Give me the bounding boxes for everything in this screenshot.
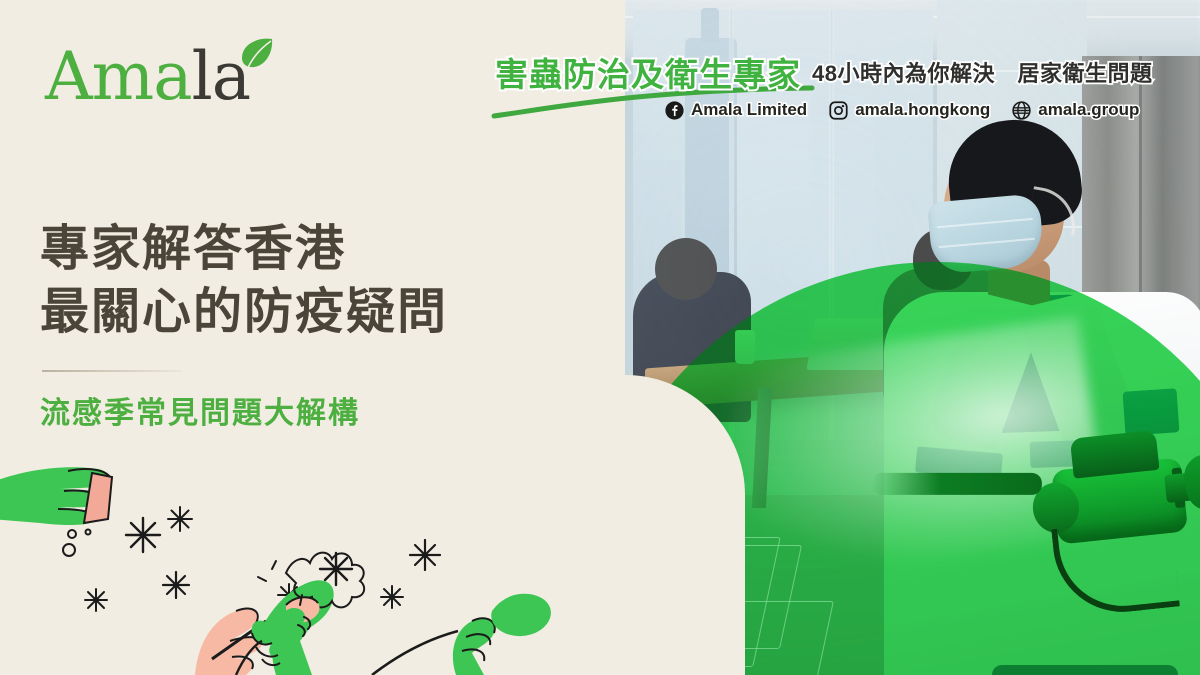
instagram-icon xyxy=(829,101,848,120)
facebook-icon xyxy=(665,101,684,120)
bubbles xyxy=(63,530,91,557)
amala-logo[interactable]: Amala xyxy=(45,38,305,116)
green-gloved-hand-wiping xyxy=(0,467,112,525)
social-link-facebook[interactable]: Amala Limited xyxy=(665,100,807,120)
leaf-icon xyxy=(228,36,276,80)
logo-text-green: Ama xyxy=(45,38,192,115)
social-links: Amala Limited amala.hongkong amala.gro xyxy=(665,100,1139,120)
spray-wand xyxy=(872,473,1042,495)
logo-wordmark: Amala xyxy=(45,38,250,116)
social-handle-instagram: amala.hongkong xyxy=(855,100,990,120)
social-handle-facebook: Amala Limited xyxy=(691,100,807,120)
fogger-machine xyxy=(1018,420,1200,589)
sparkle-stars xyxy=(85,507,440,611)
cleaning-doodles xyxy=(0,445,600,675)
page-headline: 專家解答香港 最關心的防疫疑問 xyxy=(40,218,448,343)
header-tagline-green: 害蟲防治及衛生專家 xyxy=(495,48,801,96)
header-tagline-dark: 48小時內為你解決 居家衛生問題 xyxy=(812,56,1152,88)
headline-divider xyxy=(42,370,182,372)
marketing-banner: 害蟲防治及衛生專家 48小時內為你解決 居家衛生問題 Amala Limited… xyxy=(0,0,1200,675)
social-link-instagram[interactable]: amala.hongkong xyxy=(829,100,990,120)
right-gloved-hand xyxy=(372,594,551,675)
page-subheadline: 流感季常見問題大解構 xyxy=(40,388,360,432)
social-handle-website: amala.group xyxy=(1038,100,1139,120)
social-link-website[interactable]: amala.group xyxy=(1012,100,1139,120)
globe-icon xyxy=(1012,101,1031,120)
